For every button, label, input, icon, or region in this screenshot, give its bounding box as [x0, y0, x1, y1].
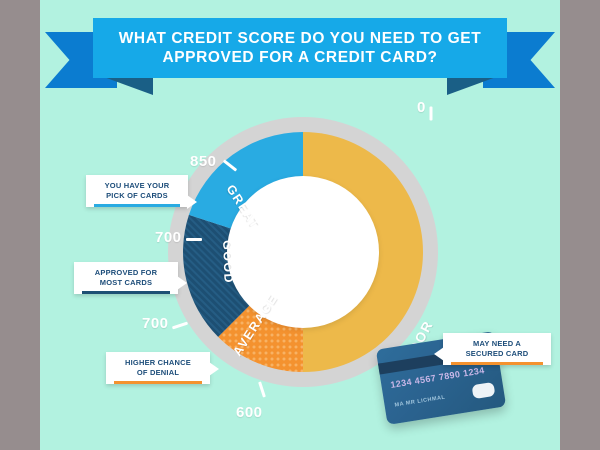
- tick-stub-600: [258, 381, 266, 397]
- tick-label-850: 850: [190, 153, 217, 170]
- letterbox-bar-right: [560, 0, 600, 450]
- title-ribbon: WHAT CREDIT SCORE DO YOU NEED TO GET APP…: [45, 18, 555, 98]
- card-holder-name: MA MR LICHMAL: [394, 395, 446, 409]
- callout-tail: [187, 195, 197, 209]
- tick-stub-700-great: [186, 238, 202, 241]
- callout-underline: [82, 291, 170, 294]
- donut-center-hole: [227, 176, 379, 328]
- callout-text: APPROVED FOR MOST CARDS: [82, 268, 170, 287]
- callout-underline: [114, 381, 202, 384]
- tick-label-700-great: 700: [155, 229, 182, 246]
- card-chip-icon: [472, 382, 496, 399]
- tick-label-700-good: 700: [142, 315, 169, 332]
- tick-stub-0: [430, 107, 433, 121]
- callout-tail: [209, 362, 219, 376]
- callout-text: YOU HAVE YOUR PICK OF CARDS: [94, 181, 180, 200]
- callout-text: HIGHER CHANCE OF DENIAL: [114, 358, 202, 377]
- page-title: WHAT CREDIT SCORE DO YOU NEED TO GET APP…: [119, 29, 482, 67]
- tick-label-0: 0: [417, 99, 426, 116]
- tick-label-600: 600: [236, 404, 263, 421]
- callout-may-need-secured-card: MAY NEED A SECURED CARD: [443, 333, 551, 365]
- callout-tail: [177, 276, 187, 290]
- callout-approved-most-cards: APPROVED FOR MOST CARDS: [74, 262, 178, 294]
- callout-underline: [451, 362, 543, 365]
- ribbon-banner: WHAT CREDIT SCORE DO YOU NEED TO GET APP…: [93, 18, 507, 78]
- callout-pick-of-cards: YOU HAVE YOUR PICK OF CARDS: [86, 175, 188, 207]
- infographic-canvas: WHAT CREDIT SCORE DO YOU NEED TO GET APP…: [40, 0, 560, 450]
- callout-tail: [434, 347, 444, 361]
- callout-underline: [94, 204, 180, 207]
- callout-text: MAY NEED A SECURED CARD: [451, 339, 543, 358]
- infographic-stage: WHAT CREDIT SCORE DO YOU NEED TO GET APP…: [0, 0, 600, 450]
- callout-higher-chance-of-denial: HIGHER CHANCE OF DENIAL: [106, 352, 210, 384]
- donut-label-good: GOOD: [220, 240, 236, 284]
- letterbox-bar-left: [0, 0, 40, 450]
